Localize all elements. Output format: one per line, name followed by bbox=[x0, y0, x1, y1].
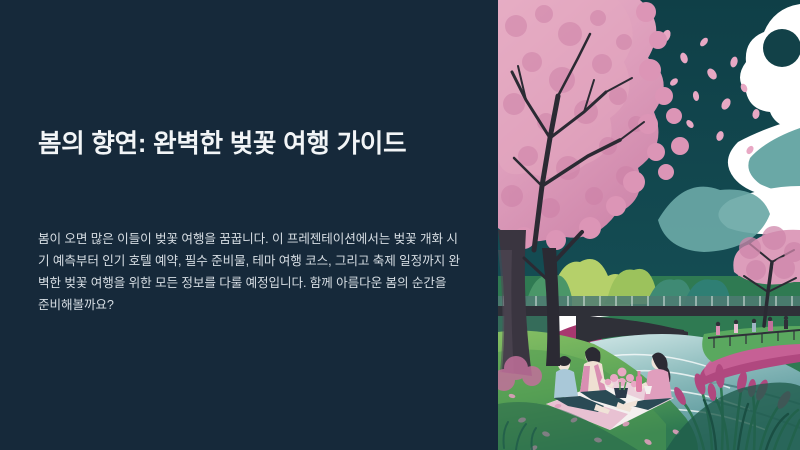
illustration-svg bbox=[498, 0, 800, 450]
presentation-slide: 봄의 향연: 완벽한 벚꽃 여행 가이드 봄이 오면 많은 이들이 벚꽃 여행을… bbox=[0, 0, 800, 450]
text-panel: 봄의 향연: 완벽한 벚꽃 여행 가이드 봄이 오면 많은 이들이 벚꽃 여행을… bbox=[0, 0, 498, 450]
page-title: 봄의 향연: 완벽한 벚꽃 여행 가이드 bbox=[38, 128, 462, 161]
cherry-blossom-illustration bbox=[498, 0, 800, 450]
slide-body-text: 봄이 오면 많은 이들이 벚꽃 여행을 꿈꿉니다. 이 프레젠테이션에서는 벚꽃… bbox=[38, 228, 461, 316]
